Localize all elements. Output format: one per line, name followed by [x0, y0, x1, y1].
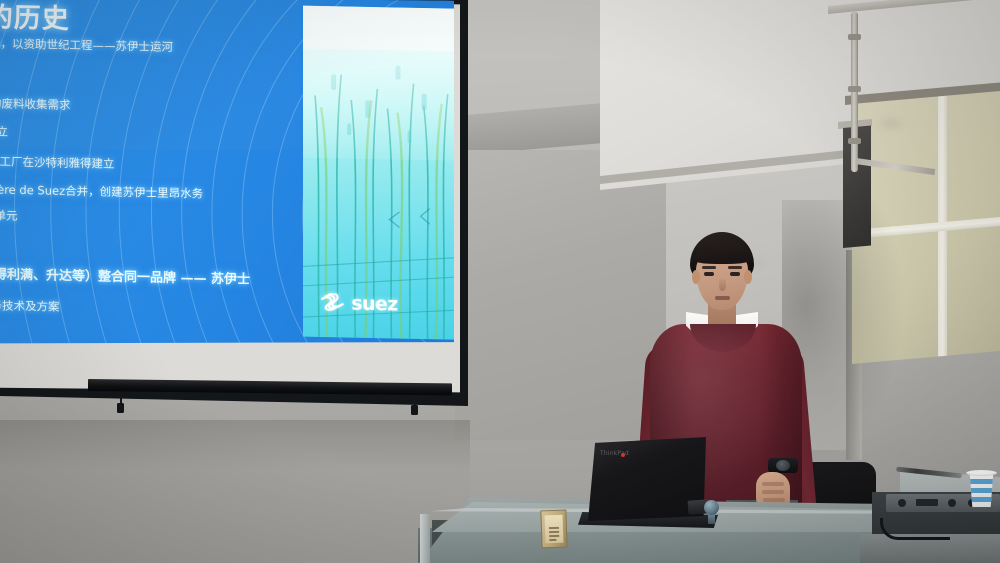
- eyebrow-right: [728, 266, 742, 269]
- thinkpad-logo-dot: [621, 453, 626, 458]
- screen-hanger: [117, 396, 124, 413]
- av-slot: [916, 499, 938, 506]
- finger: [762, 482, 784, 486]
- slide-bullet-line: 苏伊士运河公司，以资助世纪工程——苏伊士运河: [0, 34, 173, 55]
- slide-bullet-line: 伊士水务技术及方案: [0, 297, 60, 315]
- slide-bullet-line: e financière de Suez合并，创建苏伊士里昂水务: [0, 180, 203, 201]
- slide-text-block: 0年的历史 苏伊士运河公司，以资助世纪工程——苏伊士运河 足巴黎市的废料收集需求…: [0, 0, 306, 350]
- slide-bullet-line: 到同一单元: [0, 207, 18, 224]
- eye-right: [730, 272, 740, 276]
- eyebrow-left: [702, 266, 716, 269]
- photo-highlight-haze: [303, 5, 454, 160]
- nose: [719, 277, 726, 291]
- av-port: [948, 499, 956, 507]
- power-cable: [880, 518, 950, 540]
- suez-logo: suez: [318, 293, 397, 315]
- av-port: [898, 499, 906, 507]
- laptop-lock-knob: [704, 500, 719, 515]
- screen-hanger: [411, 398, 418, 415]
- tan-box-label: [545, 515, 564, 544]
- desk-leg: [420, 514, 430, 563]
- ear-right: [744, 270, 752, 284]
- cup-stripe: [968, 497, 995, 502]
- wall-lower-shadow: [0, 420, 470, 563]
- mouth: [715, 296, 730, 300]
- cup-stripe: [968, 479, 995, 484]
- hanger-weight: [117, 403, 124, 413]
- projection-screen: 0年的历史 苏伊士运河公司，以资助世纪工程——苏伊士运河 足巴黎市的废料收集需求…: [0, 0, 484, 414]
- striped-paper-cup: [968, 472, 995, 507]
- tan-box-label-lines: [549, 527, 560, 543]
- finger: [763, 498, 785, 502]
- projected-slide: 0年的历史 苏伊士运河公司，以资助世纪工程——苏伊士运河 足巴黎市的废料收集需求…: [0, 0, 454, 353]
- slide-photo-reeds: suez: [303, 5, 454, 339]
- wristwatch: [768, 458, 798, 473]
- cup-stripe: [968, 488, 995, 493]
- finger: [762, 490, 784, 494]
- pipe-clamp: [848, 34, 861, 40]
- suez-swirl-mark: [318, 293, 346, 314]
- hanger-weight: [411, 405, 418, 415]
- pipe-clamp: [848, 138, 861, 144]
- slide-title: 0年的历史: [0, 0, 70, 36]
- wall-mark: [880, 120, 902, 127]
- slide-bullet-line: 足巴黎市的废料收集需求: [0, 94, 71, 113]
- watch-face: [776, 460, 790, 471]
- thinkpad-logo: ThinkPad: [600, 450, 624, 459]
- cup-rim: [966, 470, 997, 476]
- slide-bullet-line: 和品牌（得利满、升达等）整合同一品牌 —— 苏伊士: [0, 262, 250, 287]
- ear-left: [692, 270, 700, 284]
- slide-bullet-line: 的海水淡化工厂在沙特利雅得建立: [0, 152, 115, 171]
- pipe-clamp: [848, 86, 861, 92]
- small-tan-box: [540, 510, 567, 549]
- eye-left: [704, 272, 714, 276]
- suez-wordmark: suez: [351, 295, 397, 315]
- lecture-room-photo: 0年的历史 苏伊士运河公司，以资助世纪工程——苏伊士运河 足巴黎市的废料收集需求…: [0, 0, 1000, 563]
- slide-bullet-line: 思豪成立: [0, 123, 8, 140]
